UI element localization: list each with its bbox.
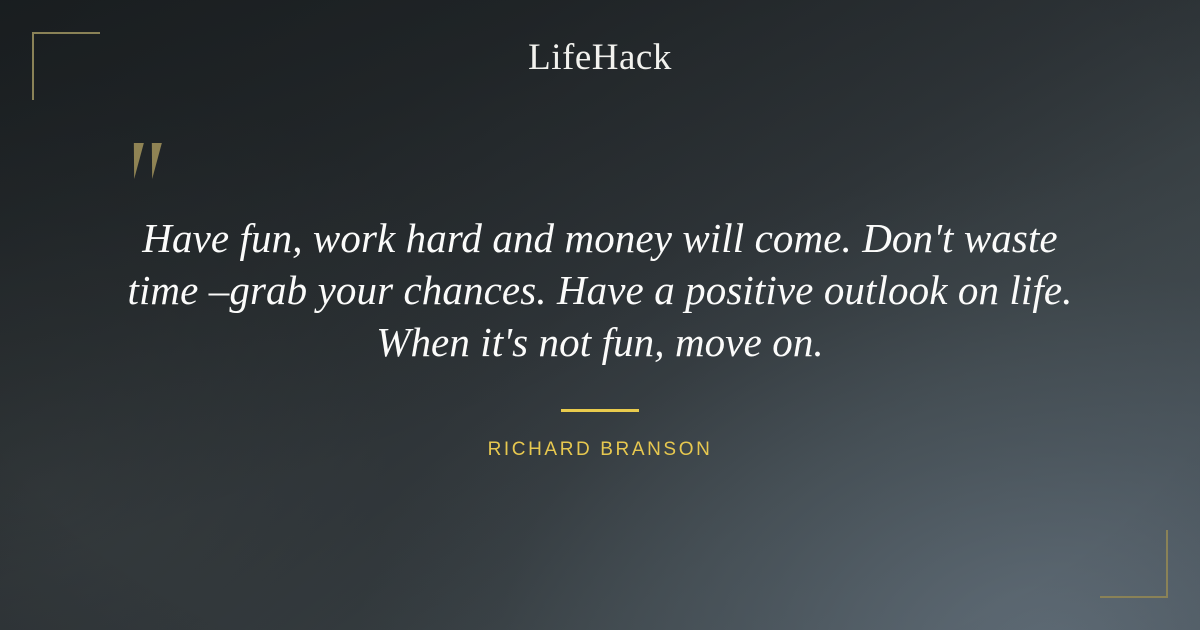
quote-line: When it's not fun, move on. bbox=[100, 316, 1100, 368]
quote-text: Have fun, work hard and money will come.… bbox=[100, 212, 1100, 368]
double-quote-icon bbox=[131, 143, 175, 187]
quote-author: RICHARD BRANSON bbox=[0, 439, 1200, 461]
quote-line: Have fun, work hard and money will come.… bbox=[100, 212, 1100, 264]
quote-line: time –grab your chances. Have a positive… bbox=[100, 264, 1100, 316]
quote-card: LifeHack Have fun, work hard and money w… bbox=[0, 0, 1200, 630]
brand-logo: LifeHack bbox=[0, 38, 1200, 79]
quote-stroke-left bbox=[128, 143, 144, 179]
corner-bracket-bottom-right-icon bbox=[1100, 530, 1168, 598]
gold-divider bbox=[561, 409, 639, 412]
quote-stroke-right bbox=[146, 143, 162, 179]
